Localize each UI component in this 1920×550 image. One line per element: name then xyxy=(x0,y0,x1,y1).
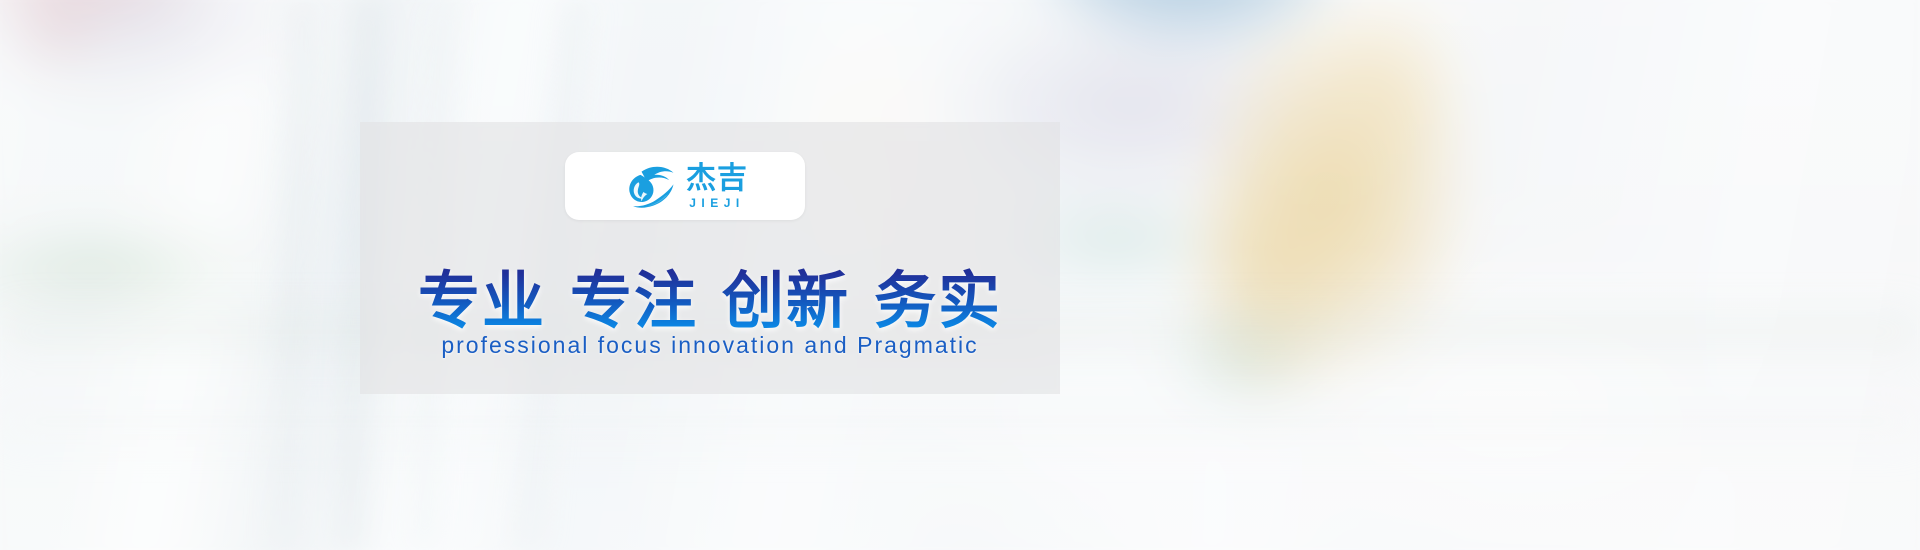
logo-name-en: JIEJI xyxy=(689,197,745,209)
headline-slogan: 专业专注创新务实 xyxy=(360,250,1060,340)
hero-banner: 杰吉 JIEJI 专业专注创新务实 professional focus inn… xyxy=(0,0,1920,550)
headline-word-3: 创新 xyxy=(722,264,850,337)
logo-wordmark: 杰吉 JIEJI xyxy=(686,164,748,209)
subheadline-slogan: professional focus innovation and Pragma… xyxy=(360,332,1060,359)
logo-name-cn: 杰吉 xyxy=(686,164,748,194)
headline-word-1: 专业 xyxy=(418,264,546,337)
jieji-swirl-icon xyxy=(622,161,676,211)
headline-word-4: 务实 xyxy=(874,264,1002,337)
headline-word-2: 专注 xyxy=(570,264,698,337)
company-logo-badge[interactable]: 杰吉 JIEJI xyxy=(565,152,805,220)
